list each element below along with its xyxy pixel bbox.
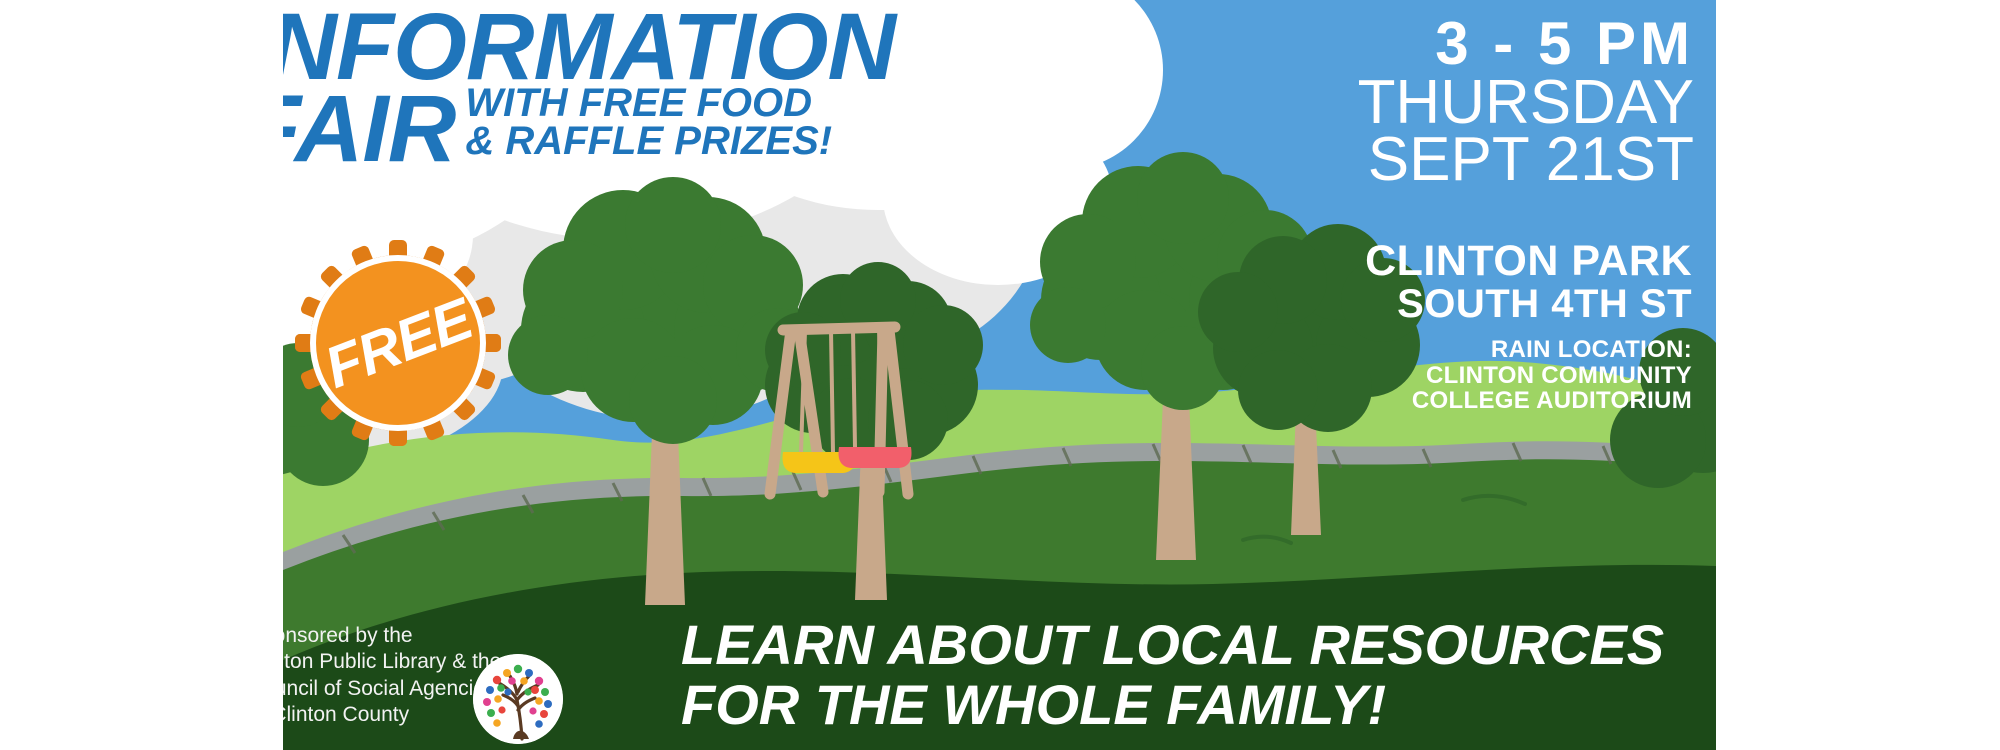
rain-location-label: RAIN LOCATION: [1365,337,1692,363]
headline-block: INFORMATION FAIR WITH FREE FOOD & RAFFLE… [283,6,943,171]
rain-location-line-1: CLINTON COMMUNITY [1365,363,1692,389]
venue-street: SOUTH 4TH ST [1365,283,1692,325]
swing-chain-1-right [831,331,833,452]
subtitle-line-2: & RAFFLE PRIZES! [465,122,832,161]
swing-chain-2-left [853,330,855,447]
headline-line-1: INFORMATION [283,6,943,90]
handprint-tree-logo [473,654,563,744]
tree-logo-icon [473,654,563,744]
datetime-block: 3 - 5 PM THURSDAY SEPT 21ST [1358,14,1694,188]
free-badge: FREE [293,238,503,448]
headline-line-2: FAIR [283,88,455,172]
event-date: SEPT 21ST [1358,131,1694,188]
swing-seat-pink [839,447,912,468]
rain-location-block: RAIN LOCATION: CLINTON COMMUNITY COLLEGE… [1365,337,1692,414]
sponsor-line-1: Sponsored by the [283,623,568,649]
event-poster: INFORMATION FAIR WITH FREE FOOD & RAFFLE… [283,0,1716,750]
event-time: 3 - 5 PM [1358,14,1694,74]
venue-name: CLINTON PARK [1365,240,1692,283]
badge-label: FREE [316,285,481,402]
event-day: THURSDAY [1358,74,1694,131]
rain-location-line-2: COLLEGE AUDITORIUM [1365,388,1692,414]
tagline-line-2: FOR THE WHOLE FAMILY! [681,675,1681,734]
swing-leg-right-front [889,330,908,494]
location-block: CLINTON PARK SOUTH 4TH ST RAIN LOCATION:… [1365,240,1692,414]
badge-inner-circle: FREE [310,255,486,431]
tagline-block: LEARN ABOUT LOCAL RESOURCES FOR THE WHOL… [681,615,1681,734]
tagline-line-1: LEARN ABOUT LOCAL RESOURCES [681,615,1681,674]
